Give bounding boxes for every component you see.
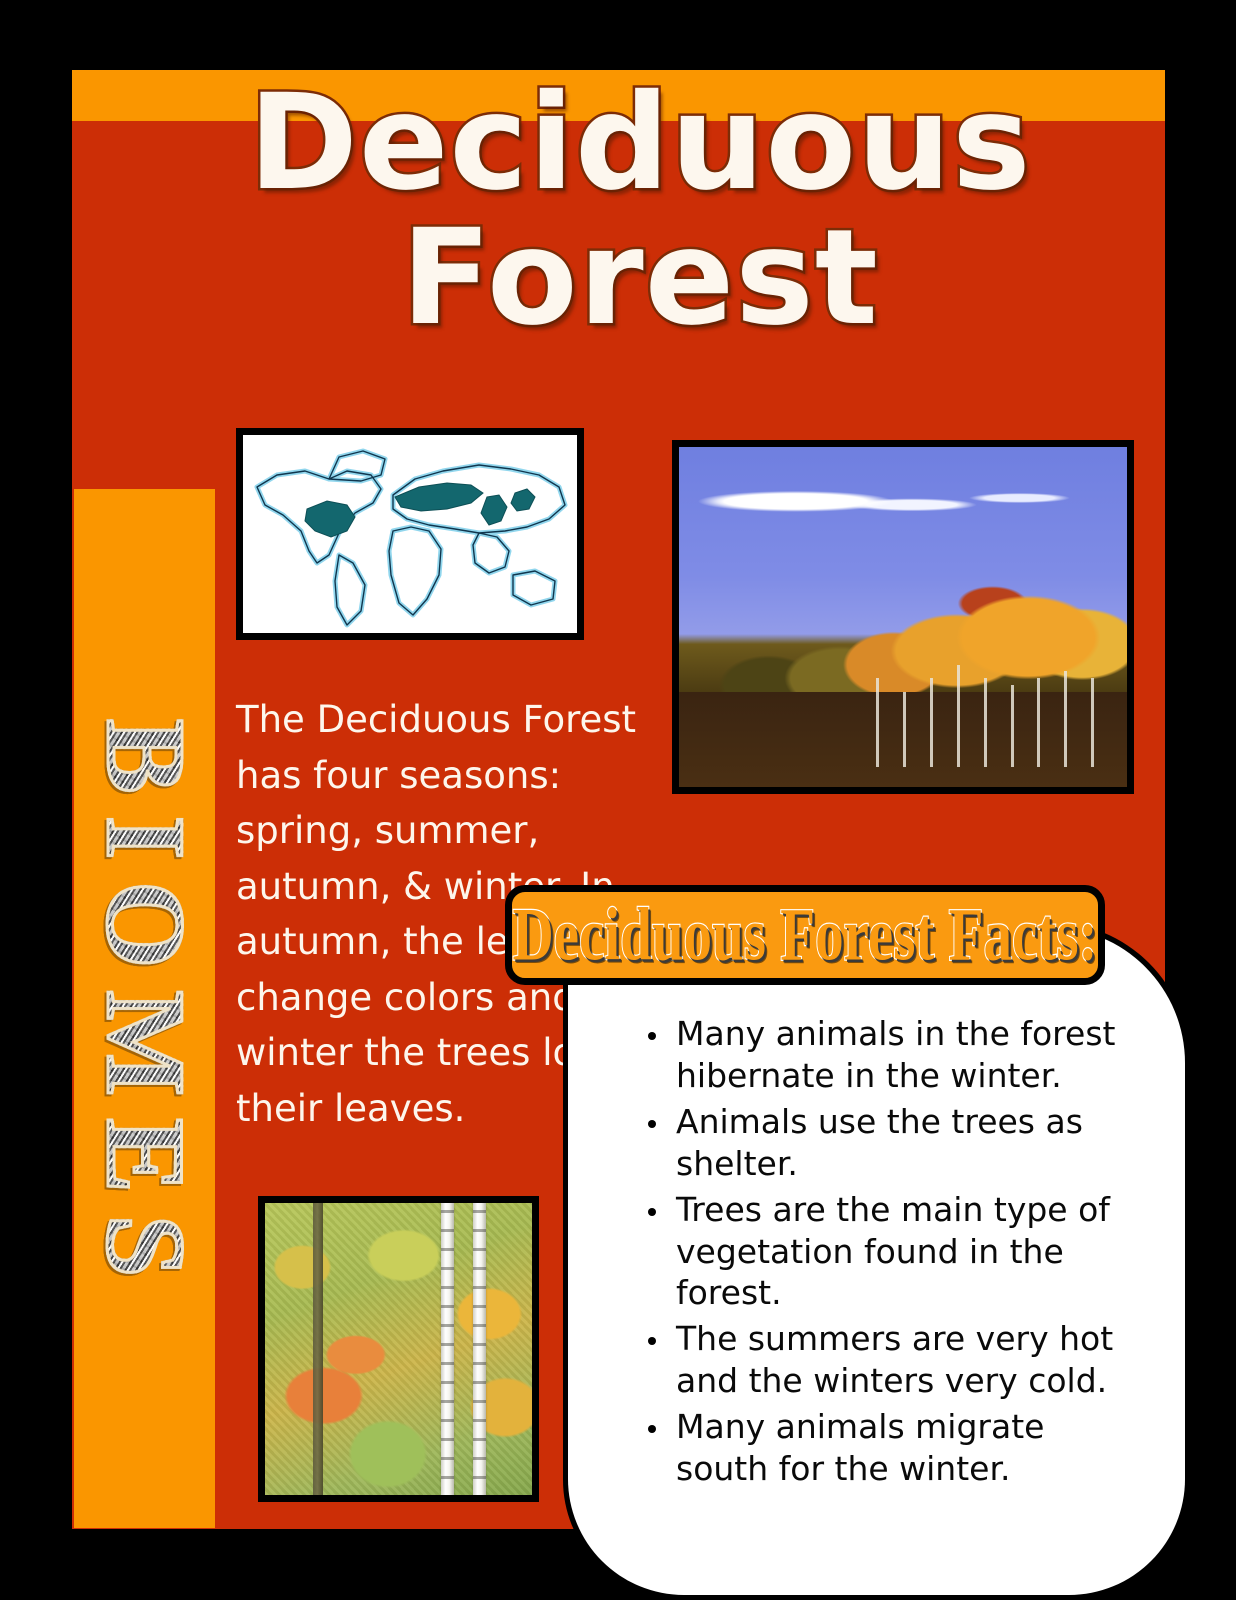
forest-landscape-image <box>672 440 1134 794</box>
world-map-svg <box>243 435 577 633</box>
list-item: Many animals migrate south for the winte… <box>646 1406 1145 1490</box>
world-map-image <box>236 428 584 640</box>
facts-list: Many animals in the forest hibernate in … <box>620 1013 1145 1490</box>
list-item: Many animals in the forest hibernate in … <box>646 1013 1145 1097</box>
facts-panel: Many animals in the forest hibernate in … <box>563 922 1190 1600</box>
forest-interior-canvas <box>265 1203 532 1495</box>
sidebar-biomes-band: BIOMES <box>74 489 215 1528</box>
page-title: Deciduous Forest <box>150 76 1130 345</box>
facts-heading-label: Deciduous Forest Facts: <box>512 897 1097 973</box>
list-item: The summers are very hot and the winters… <box>646 1318 1145 1402</box>
facts-heading-banner: Deciduous Forest Facts: <box>505 885 1105 985</box>
sidebar-biomes-label: BIOMES <box>89 718 201 1298</box>
poster-root: Deciduous Forest BIOMES <box>0 0 1236 1600</box>
forest-landscape-canvas <box>679 447 1127 787</box>
forest-interior-image <box>258 1196 539 1502</box>
title-line-2: Forest <box>150 211 1130 346</box>
list-item: Trees are the main type of vegetation fo… <box>646 1189 1145 1315</box>
facts-panel-inner: Many animals in the forest hibernate in … <box>568 927 1185 1595</box>
world-map-canvas <box>243 435 577 633</box>
list-item: Animals use the trees as shelter. <box>646 1101 1145 1185</box>
title-line-1: Deciduous <box>248 66 1031 220</box>
